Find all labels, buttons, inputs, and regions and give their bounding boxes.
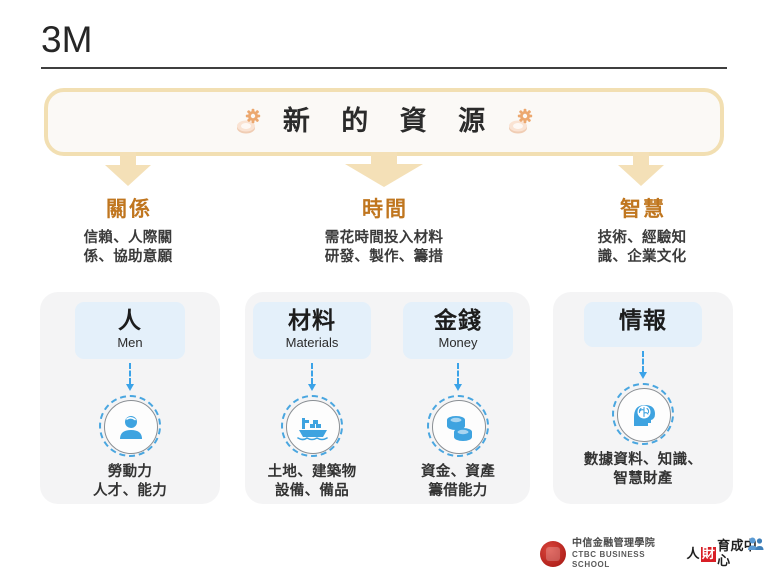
gear-coin-icon [233,107,263,137]
arrow-head [105,165,151,186]
column-heading-time: 時間 需花時間投入材料 研發、製作、籌措 [268,196,500,267]
card-title-en: Materials [257,335,367,351]
icon-ring [99,395,161,457]
connector-line [311,363,313,384]
connector-arrowhead [308,384,316,391]
card-title-cn: 情報 [588,308,698,334]
icon-circle [617,388,671,442]
connector-arrowhead [126,384,134,391]
connector-line [457,363,459,384]
red-seal-icon [540,541,566,567]
card-title-en: Men [79,335,181,351]
flow-arrow-wisdom [618,152,664,186]
card-caption: 勞動力 人才、能力 [70,463,190,501]
gear-coin-icon [505,107,535,137]
coins-icon [443,412,475,442]
card-information[interactable]: 情報 [583,302,703,489]
connector-line [129,363,131,384]
card-caption: 數據資料、知識、 智慧財產 [583,451,703,489]
card-title-cn: 材料 [257,308,367,334]
card-title-cn: 金錢 [407,308,509,334]
dashed-connector [637,351,649,381]
dashed-connector [452,363,464,393]
column-description: 需花時間投入材料 研發、製作、籌措 [268,229,500,267]
resource-banner: 新 的 資 源 [44,88,724,156]
connector-line [642,351,644,372]
person-icon [115,411,147,443]
card-caption: 土地、建築物 設備、備品 [252,463,372,501]
icon-circle [432,400,486,454]
card-label: 人 Men [75,302,185,359]
slide-root: 3M [0,0,768,576]
arrow-head [345,164,423,187]
school-name-cn: 中信金融管理學院 [572,538,679,550]
flow-arrow-time [345,152,423,186]
column-description: 信賴、人際關 係、協助意願 [38,229,218,267]
column-title: 智慧 [552,196,732,222]
column-heading-wisdom: 智慧 技術、經驗知 識、企業文化 [552,196,732,267]
icon-ring [427,395,489,457]
icon-ring [281,395,343,457]
dashed-connector [124,363,136,393]
footer-branding: 中信金融管理學院 CTBC BUSINESS SCHOOL 人財育成中心 [540,538,765,570]
column-description: 技術、經驗知 識、企業文化 [552,229,732,267]
banner-title: 新 的 資 源 [272,107,496,137]
school-name-block: 中信金融管理學院 CTBC BUSINESS SCHOOL [572,538,679,570]
column-title: 關係 [38,196,218,222]
dashed-connector [306,363,318,393]
column-heading-relations: 關係 信賴、人際關 係、協助意願 [38,196,218,267]
arrow-stem [120,152,136,166]
card-title-cn: 人 [79,308,181,334]
icon-ring [612,383,674,445]
column-title: 時間 [268,196,500,222]
people-icon [747,536,765,552]
banner-inner: 新 的 資 源 [233,107,535,137]
school-name-en: CTBC BUSINESS SCHOOL [572,550,679,570]
flow-arrow-relations [105,152,151,186]
card-label: 材料 Materials [253,302,371,359]
brain-head-icon [628,400,660,430]
card-label: 金錢 Money [403,302,513,359]
connector-arrowhead [639,372,647,379]
title-divider [41,67,727,69]
icon-circle [104,400,158,454]
card-money[interactable]: 金錢 Money [398,302,518,501]
card-materials[interactable]: 材料 Materials [252,302,372,501]
training-center-highlight: 財 [701,547,716,562]
arrow-stem [633,152,649,166]
training-center-prefix: 人 [687,547,700,562]
card-label: 情報 [584,302,702,347]
card-caption: 資金、資產 籌借能力 [398,463,518,501]
icon-circle [286,400,340,454]
arrow-head [618,165,664,186]
card-title-en: Money [407,335,509,351]
cargo-ship-icon [296,412,330,442]
title-block: 3M [41,18,727,69]
page-title: 3M [41,18,727,62]
connector-arrowhead [454,384,462,391]
card-men[interactable]: 人 Men 勞動力 人才、能力 [70,302,190,501]
